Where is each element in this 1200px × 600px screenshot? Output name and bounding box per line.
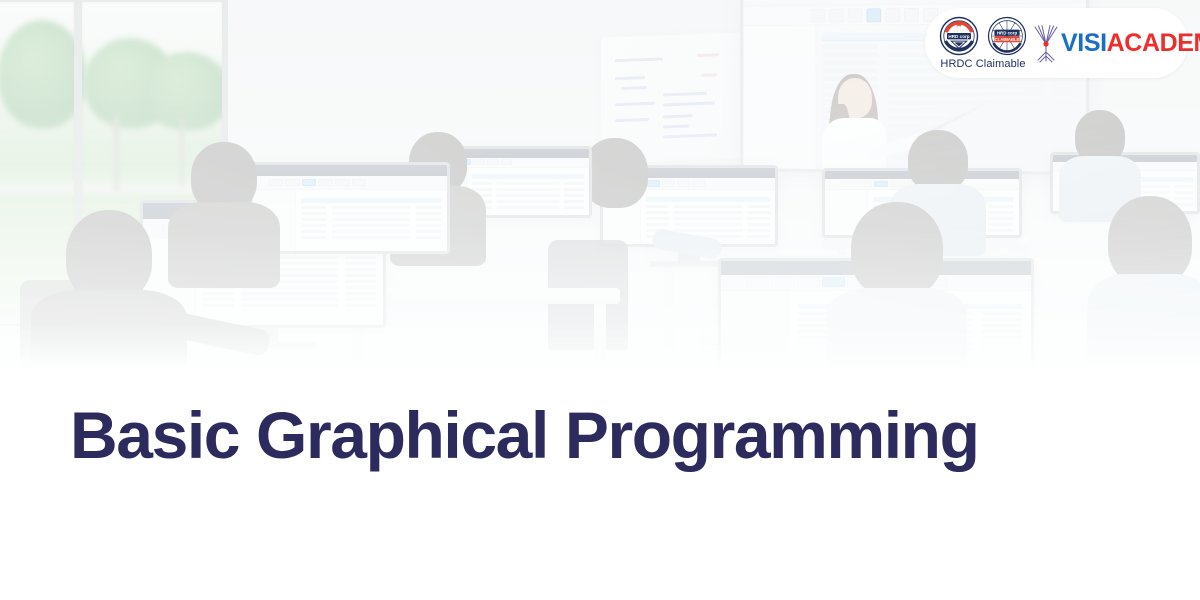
toolbar-icon [904,8,919,22]
window-header [0,0,230,2]
logo-badge: HRD corp [925,8,1188,78]
toolbar-icon [811,9,826,23]
tree-trunk [114,116,119,192]
student [832,202,962,352]
page-title: Basic Graphical Programming [70,402,979,468]
course-banner: HRD corp [0,0,1200,600]
student [1090,196,1200,368]
hrdc-registered-seal-icon: HRD corp [939,16,979,56]
student [34,210,184,368]
student [1060,110,1140,206]
toolbar-icon [829,9,844,23]
hrdc-seals: HRD corp [939,16,1027,56]
toolbar-icon [885,8,900,22]
sprout-y-icon [1031,22,1061,64]
visi-academy-logo: VISIACADEMY [1031,22,1200,64]
desk-leg [594,304,606,368]
svg-text:CLAIMABLE: CLAIMABLE [995,37,1020,42]
toolbar-icon-active [866,8,881,22]
hrdc-group: HRD corp [939,16,1027,70]
visi-academy-wordmark: VISIACADEMY [1061,29,1200,58]
svg-text:HRD corp: HRD corp [997,30,1018,35]
student [170,142,278,274]
monitor [250,162,450,254]
outdoor-tree [144,52,230,130]
hrdc-caption: HRDC Claimable [940,58,1025,70]
svg-text:HRD corp: HRD corp [948,34,969,39]
visi-word-primary: VISI [1061,29,1107,57]
toolbar-icon [848,8,863,22]
visi-word-secondary: ACADEMY [1107,29,1200,57]
hrdc-claimable-seal-icon: HRD corp CLAIMABLE [987,16,1027,56]
